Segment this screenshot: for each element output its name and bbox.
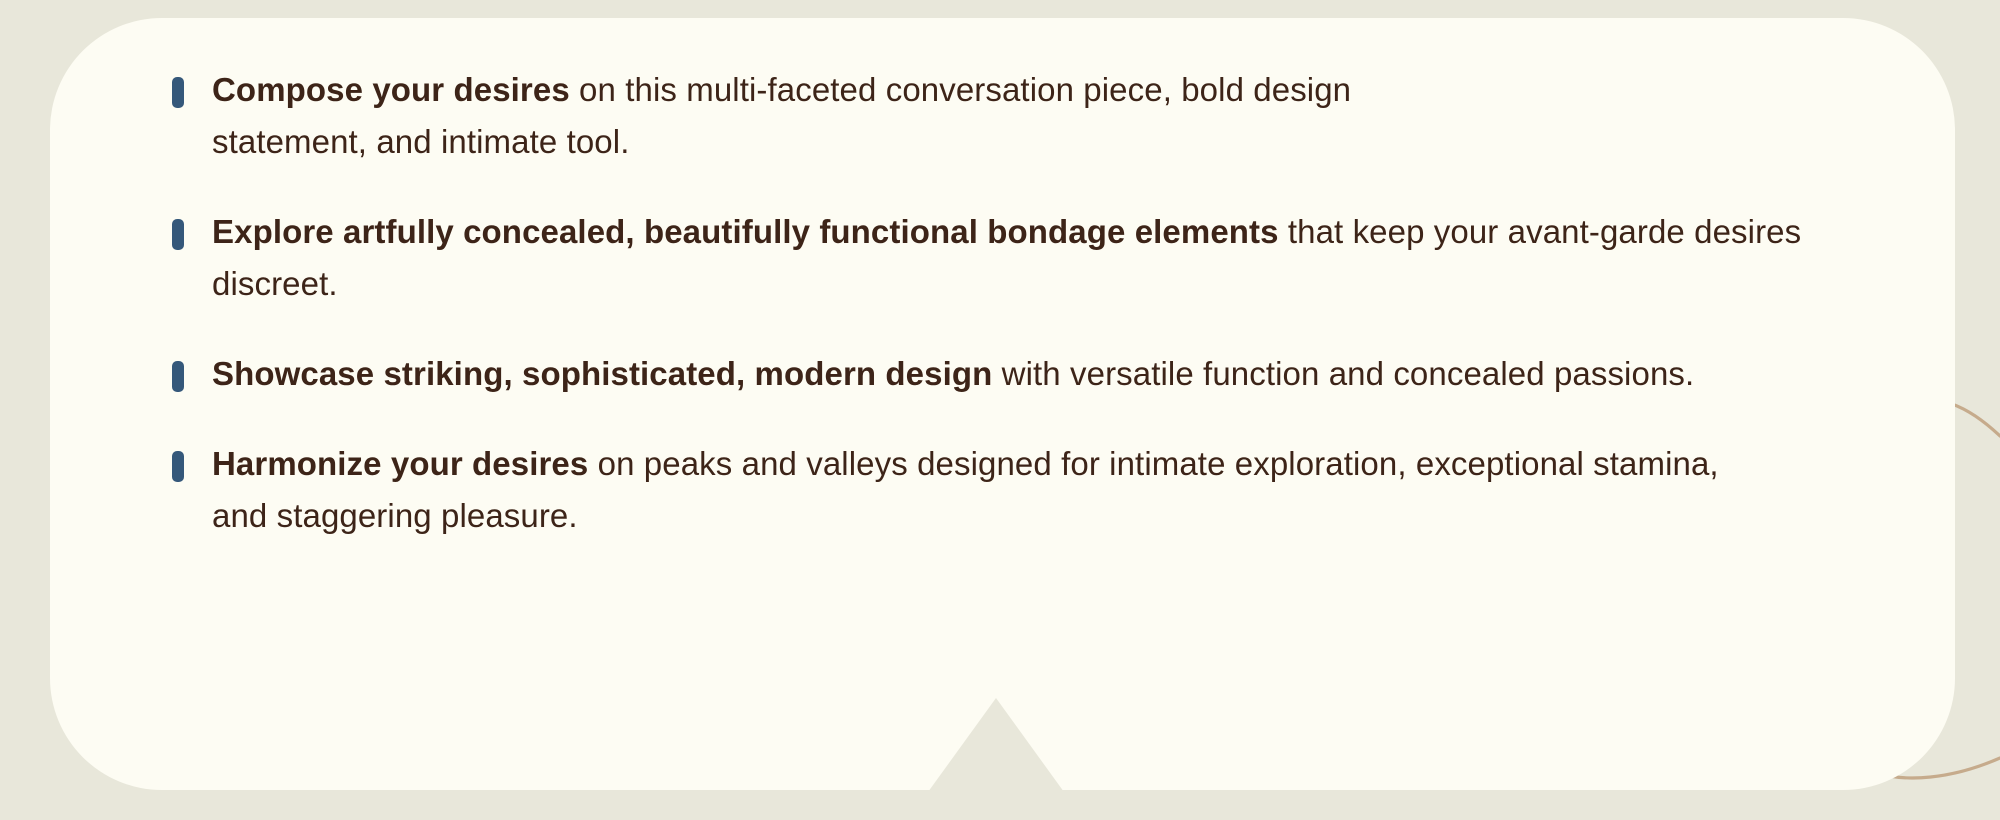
screenshot-stage: Compose your desires on this multi-facet… <box>0 0 2000 820</box>
bullet-marker-icon <box>172 77 184 108</box>
bullet-text: Explore artfully concealed, beautifully … <box>212 206 1865 310</box>
bullet-marker-icon <box>172 361 184 392</box>
bullet-marker-icon <box>172 451 184 482</box>
bullet-rest: with versatile function and concealed pa… <box>992 355 1694 392</box>
decor-arc-upper <box>1952 404 2000 436</box>
list-item: Explore artfully concealed, beautifully … <box>172 206 1865 310</box>
bullet-lead: Showcase striking, sophisticated, modern… <box>212 355 992 392</box>
bullet-lead: Harmonize your desires <box>212 445 588 482</box>
list-item: Showcase striking, sophisticated, modern… <box>172 348 1865 400</box>
bullet-lead: Explore artfully concealed, beautifully … <box>212 213 1279 250</box>
list-item: Compose your desires on this multi-facet… <box>172 64 1865 168</box>
bullet-text: Showcase striking, sophisticated, modern… <box>212 348 1865 400</box>
feature-bullet-list: Compose your desires on this multi-facet… <box>172 64 1865 542</box>
bullet-text: Harmonize your desires on peaks and vall… <box>212 438 1752 542</box>
bullet-text: Compose your desires on this multi-facet… <box>212 64 1462 168</box>
list-item: Harmonize your desires on peaks and vall… <box>172 438 1865 542</box>
bullet-lead: Compose your desires <box>212 71 570 108</box>
bullet-marker-icon <box>172 219 184 250</box>
card-content: Compose your desires on this multi-facet… <box>50 18 1955 790</box>
